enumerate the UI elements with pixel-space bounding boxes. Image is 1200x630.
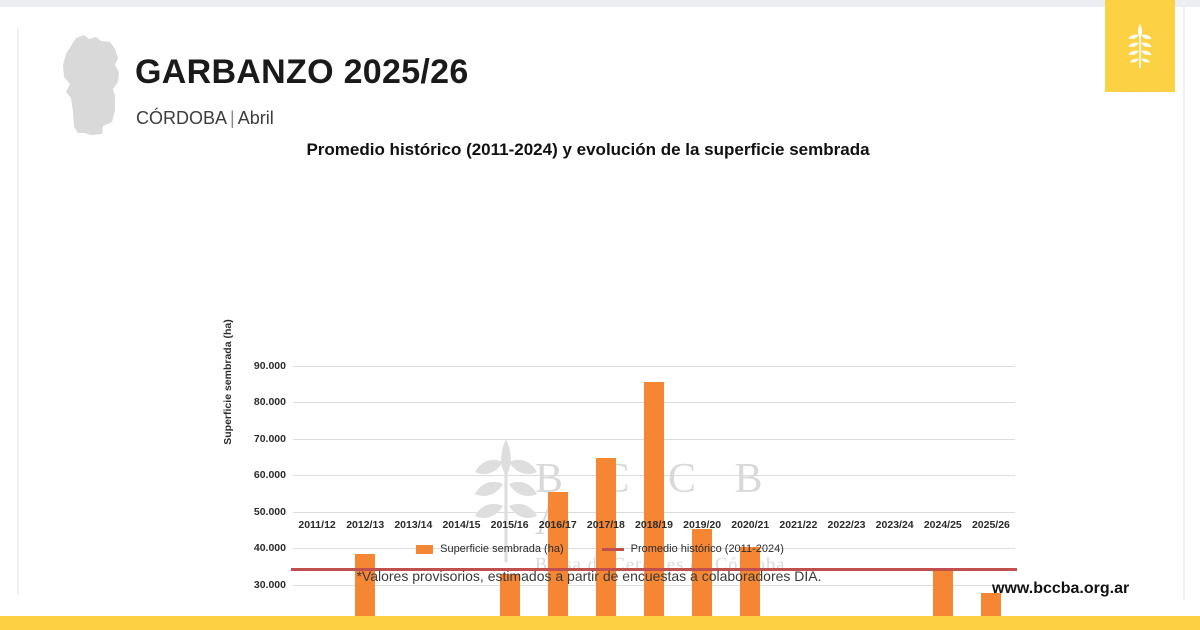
x-axis-label: 2019/20	[683, 519, 721, 531]
legend-item-bar: Superficie sembrada (ha)	[416, 543, 564, 555]
y-tick-label: 70.000	[254, 433, 286, 445]
bottom-accent-bar	[0, 616, 1200, 630]
x-axis-label: 2014/15	[442, 519, 480, 531]
footnote-text: *Valores provisorios, estimados a partir…	[356, 568, 821, 584]
bar[interactable]	[548, 492, 568, 630]
chart-title-text: Promedio histórico (2011-2024) y evoluci…	[306, 140, 869, 160]
y-axis-title: Superficie sembrada (ha)	[222, 302, 234, 462]
legend-line-label: Promedio histórico (2011-2024)	[631, 543, 784, 555]
x-axis-label: 2012/13	[346, 519, 384, 531]
bar-slot	[726, 366, 774, 630]
x-axis-label: 2022/23	[828, 519, 866, 531]
bar-slot	[534, 366, 582, 630]
chart-area: Superficie sembrada (ha) 010.00020.00030…	[0, 180, 1200, 525]
x-axis-label: 2015/16	[491, 519, 529, 531]
top-strip	[0, 0, 1200, 7]
bar-slot	[486, 366, 534, 630]
y-tick-label: 90.000	[254, 360, 286, 372]
bar-slot	[582, 366, 630, 630]
subtitle-month: Abril	[238, 108, 274, 128]
wheat-stalk-icon	[1125, 22, 1155, 70]
legend-line-swatch	[602, 548, 624, 551]
legend-bar-label: Superficie sembrada (ha)	[440, 543, 564, 555]
x-axis-label: 2011/12	[298, 519, 335, 531]
bar-slot	[341, 366, 389, 630]
y-tick-label: 80.000	[254, 396, 286, 408]
legend-item-line: Promedio histórico (2011-2024)	[602, 543, 784, 555]
bar-series	[293, 366, 1015, 630]
chart-title: Promedio histórico (2011-2024) y evoluci…	[0, 140, 1200, 160]
site-url: www.bccba.org.ar	[992, 580, 1129, 598]
x-axis-label: 2023/24	[876, 519, 914, 531]
bar-slot	[822, 366, 870, 630]
x-axis-label: 2020/21	[731, 519, 769, 531]
x-axis-label: 2018/19	[635, 519, 673, 531]
x-axis-label: 2024/25	[924, 519, 962, 531]
chart-legend: Superficie sembrada (ha) Promedio histór…	[0, 543, 1200, 555]
infographic-page: GARBANZO 2025/26 CÓRDOBA|Abril Promedio …	[0, 0, 1200, 630]
bar[interactable]	[644, 382, 664, 630]
x-axis-label: 2016/17	[539, 519, 577, 531]
bar-slot	[437, 366, 485, 630]
page-subtitle: CÓRDOBA|Abril	[136, 108, 274, 129]
y-axis-ticks: 010.00020.00030.00040.00050.00060.00070.…	[236, 360, 286, 630]
page-title: GARBANZO 2025/26	[135, 53, 469, 92]
legend-bar-swatch	[416, 545, 433, 554]
y-tick-label: 50.000	[254, 506, 286, 518]
bar-slot	[630, 366, 678, 630]
x-axis-labels: 2011/122012/132013/142014/152015/162016/…	[293, 519, 1015, 539]
plot-region: B C C B A Bolsa de Cereales de Córdoba	[293, 366, 1015, 630]
x-axis-label: 2013/14	[394, 519, 432, 531]
subtitle-separator: |	[227, 108, 238, 128]
x-axis-label: 2021/22	[779, 519, 817, 531]
brand-badge	[1105, 0, 1175, 92]
y-tick-label: 60.000	[254, 469, 286, 481]
cordoba-province-map-icon	[58, 32, 130, 144]
bar-slot	[678, 366, 726, 630]
bar-slot	[919, 366, 967, 630]
x-axis-label: 2017/18	[587, 519, 625, 531]
x-axis-label: 2025/26	[972, 519, 1010, 531]
bar-slot	[389, 366, 437, 630]
subtitle-region: CÓRDOBA	[136, 108, 227, 128]
bar-slot	[774, 366, 822, 630]
bar-slot	[293, 366, 341, 630]
bar-slot	[871, 366, 919, 630]
